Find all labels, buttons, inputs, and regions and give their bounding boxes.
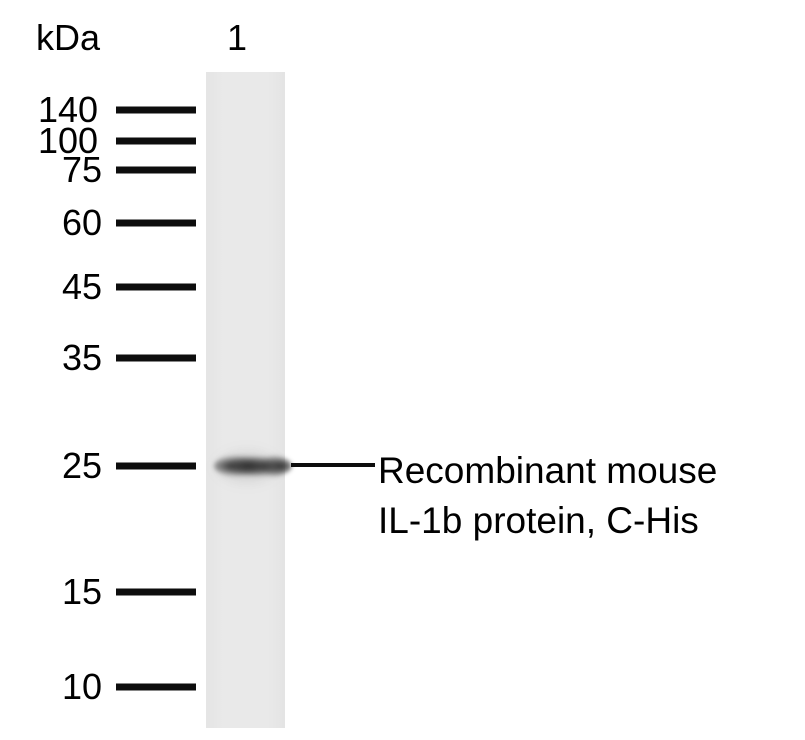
ladder-marker-dash	[116, 589, 196, 596]
ladder-marker-dash	[116, 463, 196, 470]
ladder-marker-dash	[116, 138, 196, 145]
ladder-marker-label: 15	[62, 574, 102, 610]
band-annotation-text: Recombinant mouse IL-1b protein, C-His	[378, 446, 717, 546]
ladder-marker-dash	[116, 684, 196, 691]
ladder-marker-label: 60	[62, 205, 102, 241]
annotation-leader-line	[291, 463, 375, 467]
ladder-marker-dash	[116, 220, 196, 227]
gel-lane-1	[206, 72, 285, 728]
ladder-marker-dash	[116, 107, 196, 114]
ladder-marker-dash	[116, 355, 196, 362]
band-annotation-line-1: Recombinant mouse	[378, 446, 717, 496]
ladder-marker-label: 45	[62, 269, 102, 305]
ladder-marker-label: 25	[62, 448, 102, 484]
lane-number-label: 1	[227, 20, 247, 56]
band-annotation-line-2: IL-1b protein, C-His	[378, 496, 717, 546]
ladder-marker-dash	[116, 167, 196, 174]
western-blot-figure: kDa 1 140 100 75 60 45 35 25	[0, 0, 805, 740]
protein-band-25kda	[214, 453, 292, 479]
ladder-marker-label: 75	[62, 152, 102, 188]
ladder-marker-dash	[116, 284, 196, 291]
ladder-marker-label: 10	[62, 669, 102, 705]
ladder-marker-label: 35	[62, 340, 102, 376]
molecular-weight-ladder: 140 100 75 60 45 35 25 15	[0, 0, 205, 740]
